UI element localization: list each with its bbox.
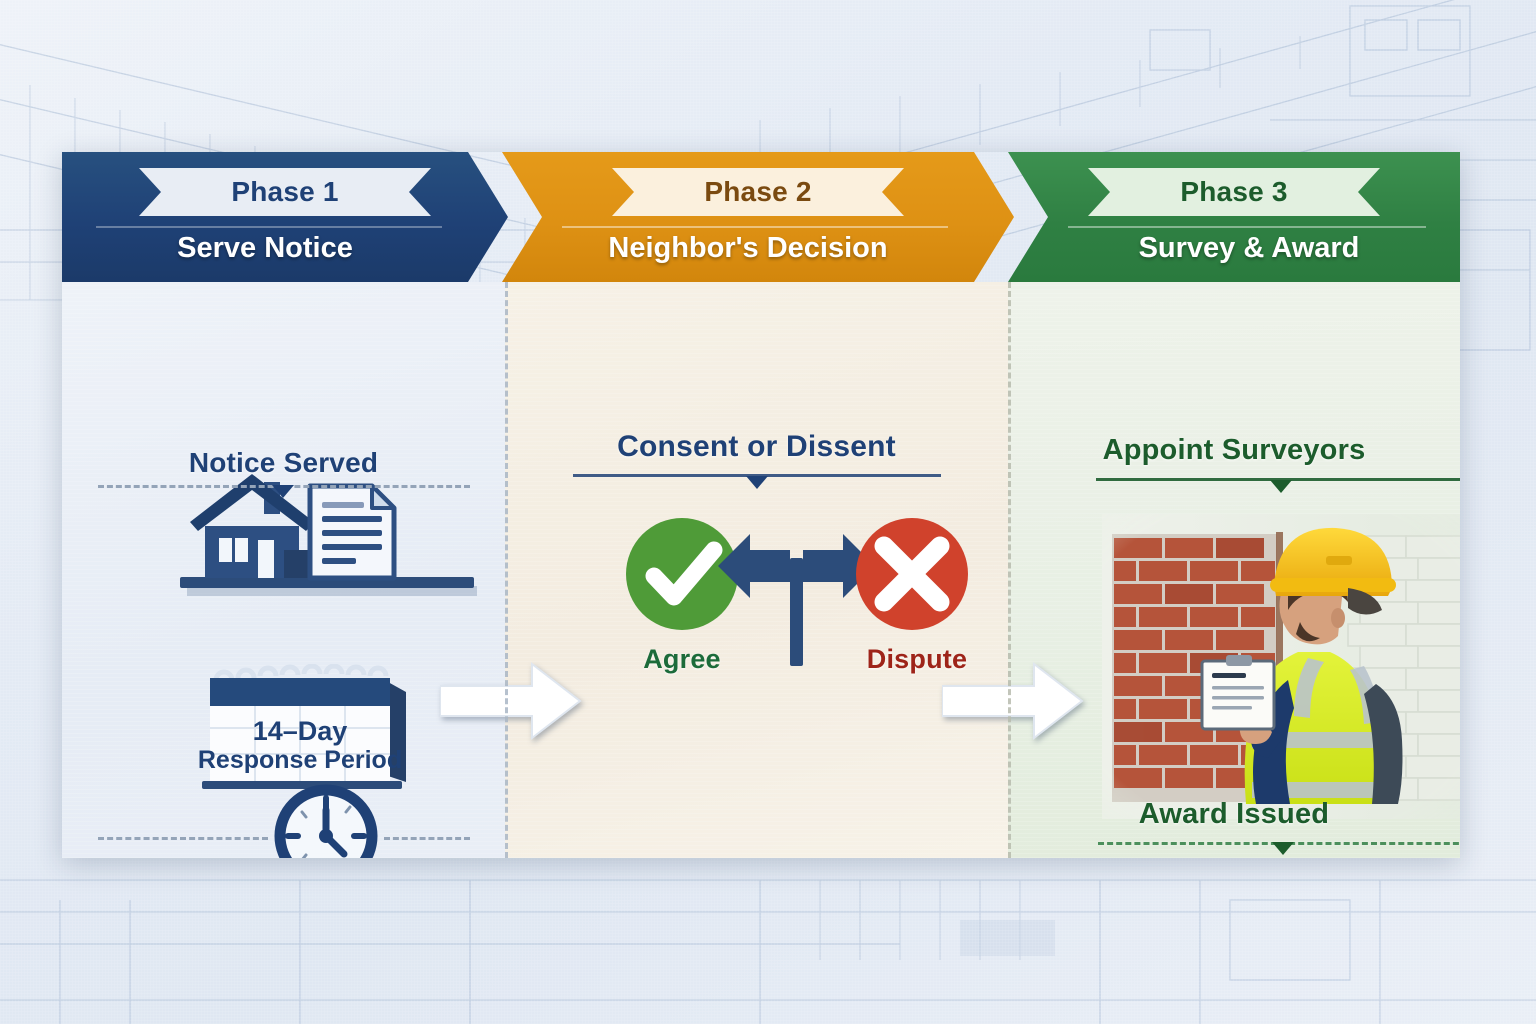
phase-1-divider-2: [98, 837, 268, 840]
phase-1-divider-3: [384, 837, 470, 840]
x-circle-icon: [856, 518, 968, 630]
phase-3-step-2-label-wrap: Award Issued: [1008, 798, 1460, 831]
process-flow-panel: Phase 1 Serve Notice Phase 2 Neighbor's …: [62, 152, 1460, 858]
column-divider-2: [1008, 282, 1011, 858]
svg-text:14–Day: 14–Day: [253, 716, 348, 746]
phase-3-step-2-label: Award Issued: [1139, 798, 1329, 830]
surveyor-inspecting-brick-wall-photo: [1102, 514, 1460, 819]
phase-3-divider-arrow: [1272, 842, 1294, 855]
column-divider-1: [505, 282, 508, 858]
phase-1-badge: Phase 1: [139, 168, 431, 216]
phase-2-badge: Phase 2: [612, 168, 904, 216]
phase-2-heading-text: Consent or Dissent: [617, 430, 896, 463]
phase-body-row: Notice Served 14–Day Response Period: [62, 282, 1460, 858]
phase-2-heading-arrow: [746, 476, 768, 489]
phase-2-header[interactable]: Phase 2 Neighbor's Decision: [502, 152, 1014, 282]
phase-3-step-1-label: Appoint Surveyors: [1103, 434, 1366, 466]
phase-3-header-rule: [1068, 226, 1426, 228]
clock-icon: [272, 782, 380, 858]
phase-2-option-agree-label: Agree: [643, 644, 721, 674]
phase-3-header[interactable]: Phase 3 Survey & Award: [1008, 152, 1460, 282]
phase-2-heading: Consent or Dissent: [505, 430, 1008, 464]
check-circle-icon: [626, 518, 738, 630]
phase-3-badge: Phase 3: [1088, 168, 1380, 216]
phase-1-step-1-label: Notice Served: [62, 447, 505, 479]
phase-2-title: Neighbor's Decision: [502, 232, 1014, 265]
phase-2-header-rule: [562, 226, 948, 228]
phase-3-heading-arrow: [1270, 480, 1292, 493]
svg-text:Response Period: Response Period: [198, 746, 402, 774]
phase-1-divider-1-arrow: [272, 485, 294, 498]
phase-3-step-1-label-wrap: Appoint Surveyors: [1008, 434, 1460, 467]
phase-3-title: Survey & Award: [1008, 232, 1460, 265]
phase-1-header[interactable]: Phase 1 Serve Notice: [62, 152, 508, 282]
connector-arrow-1: [440, 660, 582, 742]
phase-1-header-rule: [96, 226, 442, 228]
phase-1-title: Serve Notice: [62, 232, 508, 265]
connector-arrow-2: [942, 660, 1084, 742]
phase-header-row: Phase 1 Serve Notice Phase 2 Neighbor's …: [62, 152, 1460, 282]
